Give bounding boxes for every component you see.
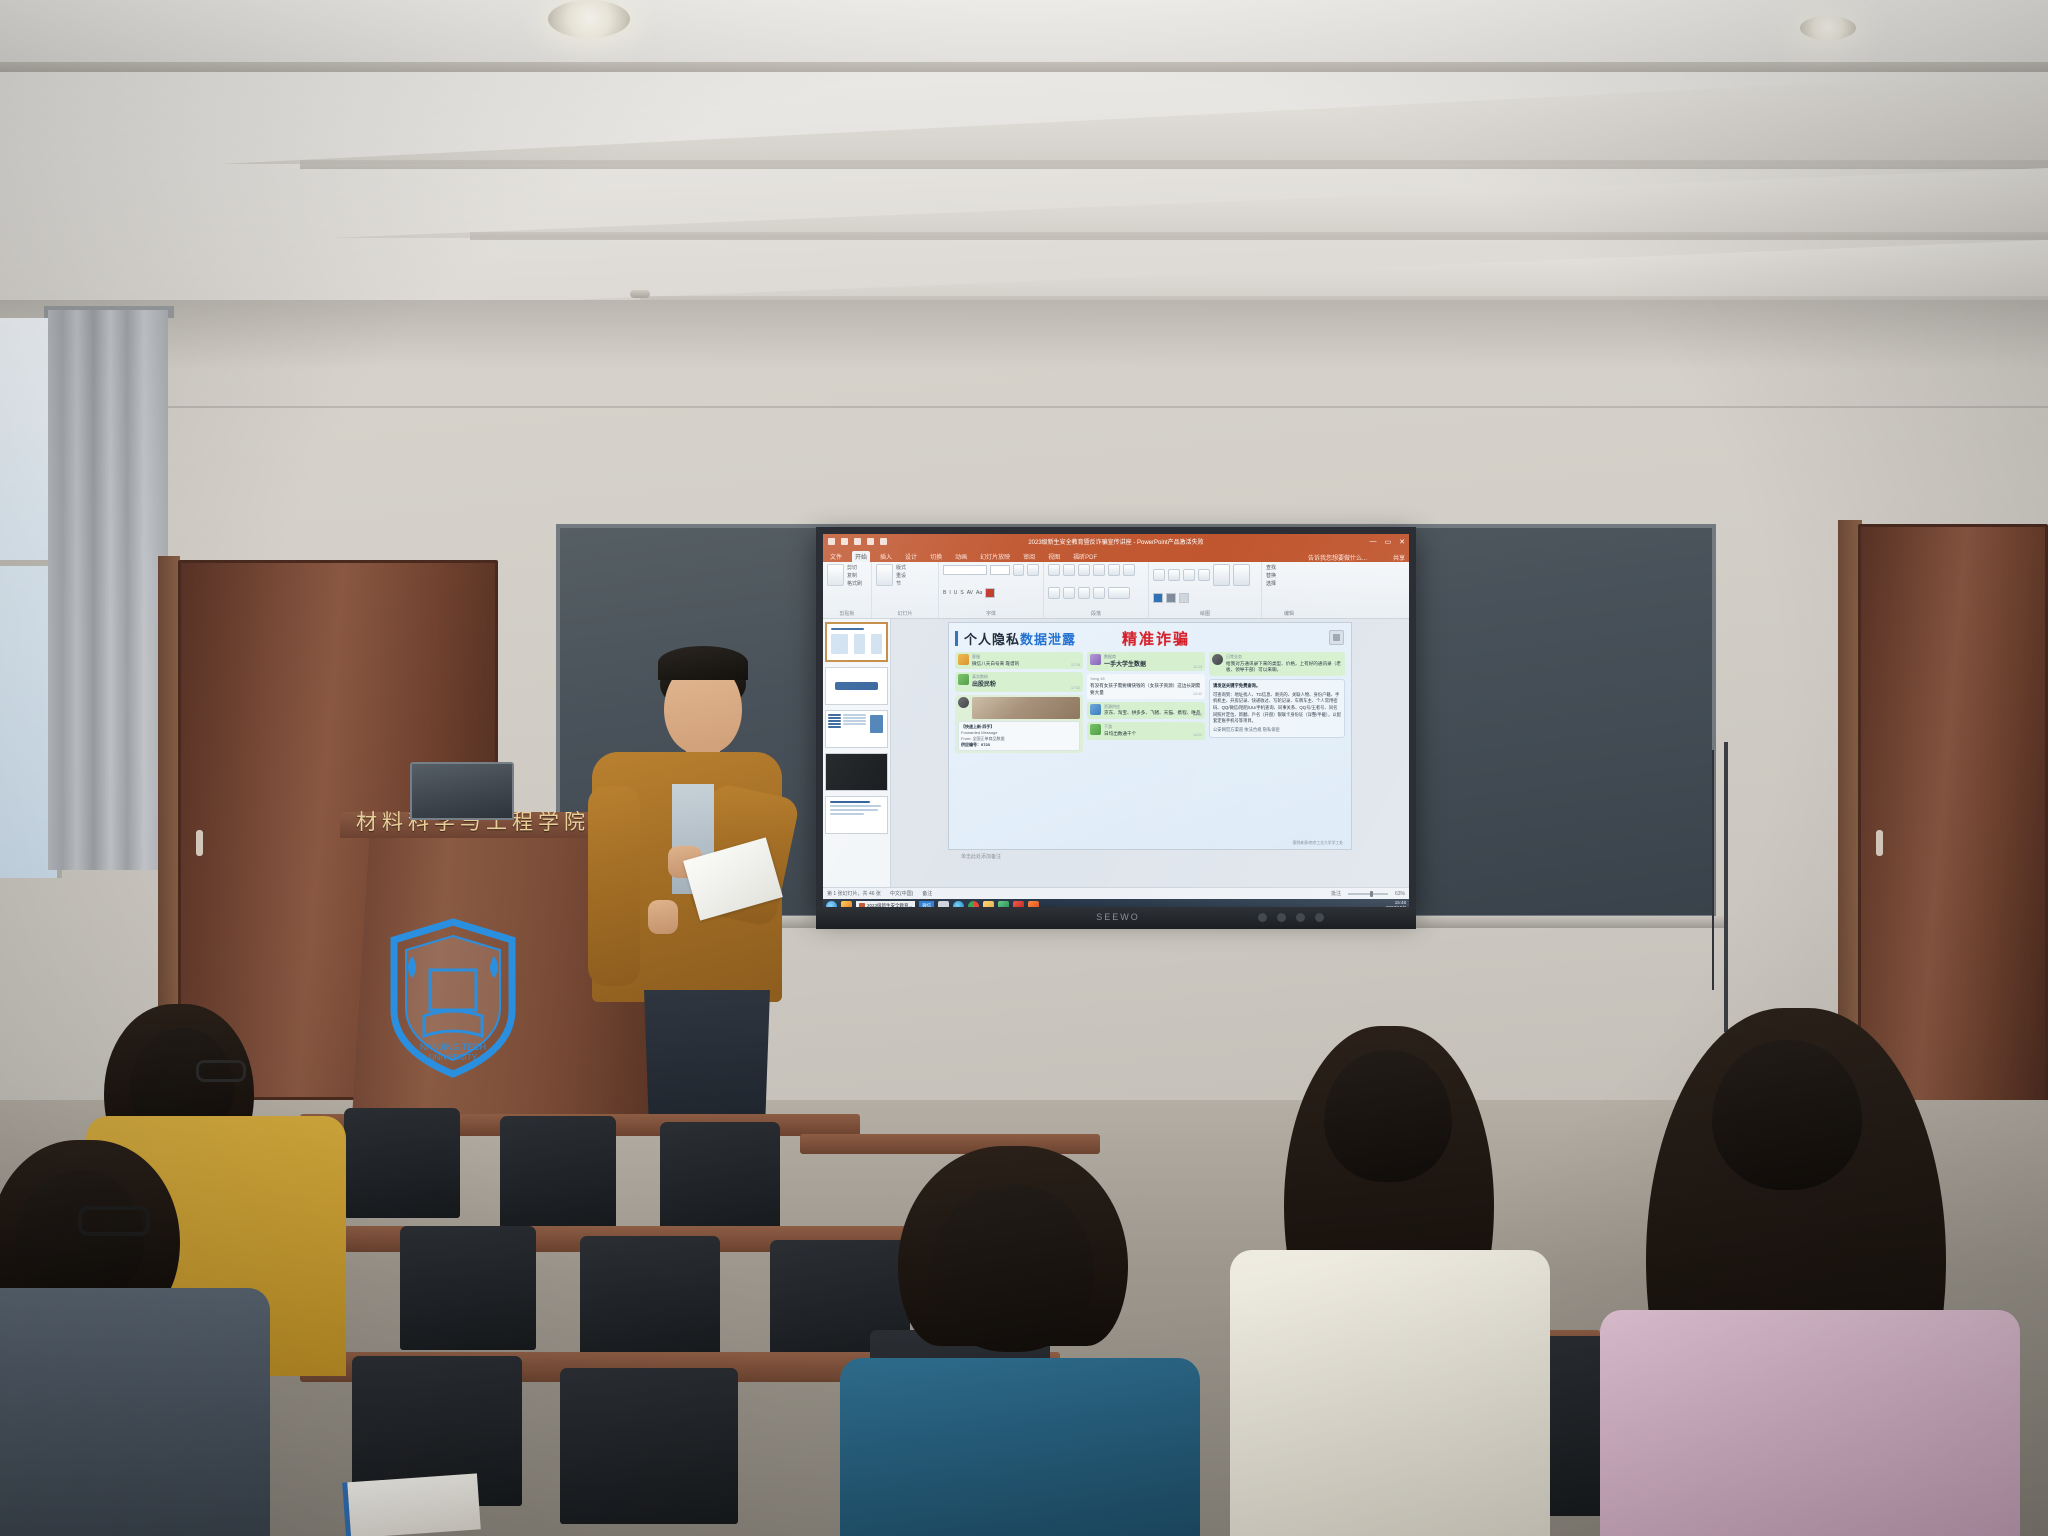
shape-oval-icon[interactable] (1198, 569, 1210, 581)
align-left-icon[interactable] (1048, 587, 1060, 599)
presenter-fringe (658, 646, 748, 680)
chat-time-5: 14:08 (1193, 713, 1202, 718)
replace-label[interactable]: 替换 (1266, 572, 1276, 579)
forward-line2: From: 全国正单商品数据 (961, 736, 1005, 741)
slide-title: 个人隐私数据泄露 (964, 629, 1076, 648)
chat-bubble-7: 日常业务 给我对方通讯录下来的类型、价格，上有好的通讯录（老板、领导干部）可以来… (1209, 652, 1345, 676)
student-right-pink-body (1600, 1310, 2020, 1536)
numbering-icon[interactable] (1063, 564, 1075, 576)
powerpoint-workspace: 1 2 (823, 619, 1409, 887)
downlight-2 (1800, 16, 1856, 40)
avatar (1090, 724, 1101, 735)
document-title: 2023级新生安全教育暨反诈骗宣传讲座 - PowerPoint产品激活失败 (823, 537, 1409, 546)
shape-effects-icon[interactable] (1179, 593, 1189, 603)
student-left-body (0, 1288, 270, 1536)
paste-icon[interactable] (827, 564, 844, 586)
chair-5[interactable] (580, 1236, 720, 1362)
ceiling-beam-front (0, 0, 2048, 62)
powerpoint-status-bar[interactable]: 第 1 张幻灯片，共 46 张 中文(中国) 备注 批注 63% (823, 887, 1409, 899)
ribbon-group-paragraph[interactable]: 段落 (1044, 562, 1149, 618)
tab-animations[interactable]: 动画 (952, 551, 970, 562)
avatar (958, 654, 969, 665)
ribbon-group-drawing[interactable]: 绘图 (1149, 562, 1262, 618)
group-label-editing: 编辑 (1266, 610, 1312, 618)
smoke-detector (630, 290, 650, 298)
underline-icon[interactable]: U (954, 590, 958, 596)
display-key-4[interactable] (1315, 913, 1324, 922)
notes-pane[interactable]: 单击此处添加备注 (891, 850, 1409, 868)
downlight-1 (548, 0, 630, 38)
char-spacing-icon[interactable]: AV (967, 590, 973, 596)
bold-icon[interactable]: B (943, 590, 946, 596)
display-key-3[interactable] (1296, 913, 1305, 922)
slide-header: 个人隐私数据泄露 精准诈骗 (955, 628, 1345, 649)
computer-screen[interactable]: 2023级新生安全教育暨反诈骗宣传讲座 - PowerPoint产品激活失败 —… (823, 534, 1409, 907)
slide-thumbnail-2[interactable]: 2 (825, 667, 888, 705)
ribbon-group-clipboard[interactable]: 剪切 复制 格式刷 剪贴板 (823, 562, 872, 618)
display-brand-label: SEEWO (1078, 911, 1158, 924)
chair-8[interactable] (560, 1368, 738, 1524)
align-center-icon[interactable] (1063, 587, 1075, 599)
display-control-keys[interactable] (1258, 913, 1324, 922)
slide-title-part1: 个人隐私 (964, 632, 1020, 647)
tab-transitions[interactable]: 切换 (927, 551, 945, 562)
laptop[interactable] (410, 762, 514, 820)
tab-file[interactable]: 文件 (827, 551, 845, 562)
slide-footer-credit: 案例来源/南京工业大学学工处 (1293, 841, 1343, 846)
ribbon-group-editing[interactable]: 查找 替换 选择 编辑 (1262, 562, 1316, 618)
font-name-box[interactable] (943, 565, 987, 575)
chat-text-5: 京东、淘宝、拼多多、飞猪、天猫、携程、唯品 (1104, 710, 1202, 717)
title-accent-bar (955, 631, 958, 646)
forward-line3: 供应编号：0723 (961, 742, 990, 747)
svg-text:NANJING TECH: NANJING TECH (420, 1042, 486, 1052)
slide-column-right: 日常业务 给我对方通讯录下来的类型、价格，上有好的通讯录（老板、领导干部）可以来… (1209, 652, 1345, 848)
shape-line-icon[interactable] (1183, 569, 1195, 581)
avatar (1212, 654, 1223, 665)
group-label-font: 字体 (943, 610, 1039, 618)
ribbon-tabs[interactable]: 文件 开始 插入 设计 切换 动画 幻灯片放映 审阅 视图 福昕PDF 告诉我您… (823, 549, 1409, 562)
chat-bubble-5: 资源供应 京东、淘宝、拼多多、飞猪、天猫、携程、唯品 14:08 (1087, 702, 1205, 719)
chat-bubble-3: 数据商 一手大学生数据 11:13 (1087, 652, 1205, 671)
comments-button[interactable]: 批注 (1331, 890, 1341, 897)
forwarded-photo-card: 【快递上新·四手】 Forwarded Message From: 全国正单商品… (955, 695, 1083, 753)
door-handle-right[interactable] (1876, 830, 1883, 856)
language-indicator[interactable]: 中文(中国) (890, 890, 913, 897)
chat-time-4: 13:42 (1193, 692, 1202, 697)
chat-text-2: 出股民粉 (972, 681, 1080, 690)
format-painter-label[interactable]: 格式刷 (847, 580, 862, 587)
chat-sender-1: 客服 (972, 654, 1080, 660)
tv-signal-cable (1712, 750, 1714, 990)
slide-logo-icon (1329, 630, 1344, 645)
chair-3[interactable] (660, 1122, 780, 1238)
avatar (958, 674, 969, 685)
chat-time-6: 14:21 (1193, 733, 1202, 738)
chat-sender-2: 真实数粉 (972, 674, 1080, 680)
current-slide[interactable]: 个人隐私数据泄露 精准诈骗 客服 微信八天白号来 靠谱的 (948, 622, 1352, 850)
section-label[interactable]: 节 (896, 580, 906, 587)
notes-toggle-button[interactable]: 备注 (922, 890, 932, 897)
forwarded-message-block: 【快递上新·四手】 Forwarded Message From: 全国正单商品… (958, 721, 1080, 751)
slide-column-left: 客服 微信八天白号来 靠谱的 17:15 真实数粉 出股民粉 (955, 652, 1083, 848)
quick-styles-icon[interactable] (1233, 564, 1250, 586)
copy-label[interactable]: 复制 (847, 572, 862, 579)
wall-seam-1 (0, 406, 2048, 408)
tab-home[interactable]: 开始 (852, 551, 870, 562)
zoom-level[interactable]: 63% (1395, 891, 1405, 897)
chat-time-3: 11:13 (1193, 665, 1202, 670)
tab-view[interactable]: 视图 (1045, 551, 1063, 562)
ribbon-group-slides[interactable]: 版式 重设 节 幻灯片 (872, 562, 939, 618)
display-key-2[interactable] (1277, 913, 1286, 922)
align-text-icon[interactable] (1123, 564, 1135, 576)
tab-insert[interactable]: 插入 (877, 551, 895, 562)
bullets-icon[interactable] (1048, 564, 1060, 576)
decrease-font-icon[interactable] (1027, 564, 1039, 576)
decrease-indent-icon[interactable] (1078, 564, 1090, 576)
chat-bubble-4: Yang 18 有没有女孩子需要赚快钱的（女孩子资源）这边长期需要大量 13:4… (1087, 674, 1205, 698)
avatar (958, 697, 969, 708)
student-center-head (930, 1184, 1094, 1352)
service-listing-panel: 请发送关键字免费查询。 可查询到：地址找人、TG信息、剥壳的、关联人物、身份户籍… (1209, 679, 1345, 738)
shape-fill-icon[interactable] (1153, 593, 1163, 603)
increase-indent-icon[interactable] (1093, 564, 1105, 576)
slide-thumbnail-3[interactable]: 3 (825, 710, 888, 748)
smartart-icon[interactable] (1108, 587, 1130, 599)
shape-arrow-icon[interactable] (1168, 569, 1180, 581)
slide-title-part2: 数据泄露 (1020, 632, 1076, 647)
tab-review[interactable]: 审阅 (1020, 551, 1038, 562)
chat-sender-4: Yang 18 (1090, 676, 1202, 682)
panel-body: 可查询到：地址找人、TG信息、剥壳的、关联人物、身份户籍、手机机主、开房记录、快… (1213, 692, 1341, 724)
group-label-drawing: 绘图 (1153, 610, 1257, 618)
layout-label[interactable]: 版式 (896, 564, 906, 571)
university-emblem: NANJING TECH UNIVERSITY (386, 918, 520, 1078)
chat-text-6: 日均出数通千个 (1104, 731, 1202, 738)
forwarded-image (972, 697, 1080, 719)
chat-sender-7: 日常业务 (1226, 654, 1342, 660)
group-label-clipboard: 剪贴板 (827, 610, 867, 618)
door-right[interactable] (1858, 524, 2048, 1124)
student-right-pink-head (1712, 1040, 1862, 1190)
close-icon[interactable]: ✕ (1399, 538, 1405, 546)
strikethrough-icon[interactable]: S (960, 590, 963, 596)
ceiling-slot-3 (470, 232, 2048, 240)
presenter-left-sleeve (588, 786, 640, 986)
chat-text-4: 有没有女孩子需要赚快钱的（女孩子资源）这边长期需要大量 (1090, 683, 1202, 696)
slide-editing-stage[interactable]: 个人隐私数据泄露 精准诈骗 客服 微信八天白号来 靠谱的 (891, 619, 1409, 887)
student-right-light-body (1230, 1250, 1550, 1536)
chat-sender-6: 下游 (1104, 724, 1202, 730)
text-direction-icon[interactable] (1108, 564, 1120, 576)
group-label-paragraph: 段落 (1048, 610, 1144, 618)
arrange-icon[interactable] (1213, 564, 1230, 586)
chat-text-3: 一手大学生数据 (1104, 661, 1202, 670)
panel-title: 请发送关键字免费查询。 (1213, 683, 1341, 690)
change-case-icon[interactable]: Aa (976, 590, 982, 596)
chat-bubble-2: 真实数粉 出股民粉 17:02 (955, 672, 1083, 691)
chat-bubble-1: 客服 微信八天白号来 靠谱的 17:15 (955, 652, 1083, 669)
student-center-body (840, 1358, 1200, 1536)
share-button[interactable]: 共享 (1393, 553, 1405, 562)
group-label-slides: 幻灯片 (876, 610, 934, 618)
chat-time-2: 17:02 (1071, 686, 1080, 691)
chair-2[interactable] (500, 1116, 616, 1228)
chat-text-7: 给我对方通讯录下来的类型、价格，上有好的通讯录（老板、领导干部）可以来聊。 (1226, 661, 1342, 674)
chat-time-1: 17:15 (1071, 663, 1080, 668)
forward-label: 【快递上新·四手】 (961, 724, 994, 729)
shape-outline-icon[interactable] (1166, 593, 1176, 603)
slide-thumbnail-1[interactable]: 1 (825, 622, 888, 662)
cut-label[interactable]: 剪切 (847, 564, 862, 571)
display-key-1[interactable] (1258, 913, 1267, 922)
tab-slideshow[interactable]: 幻灯片放映 (977, 551, 1013, 562)
avatar (1090, 704, 1101, 715)
ribbon-body[interactable]: 剪切 复制 格式刷 剪贴板 版式 重设 节 幻灯片 (823, 562, 1409, 619)
student-left-head (16, 1170, 144, 1304)
chat-sender-5: 资源供应 (1104, 704, 1202, 710)
zoom-slider[interactable] (1348, 893, 1388, 895)
chat-bubble-6: 下游 日均出数通千个 14:21 (1087, 722, 1205, 739)
presenter-left-hand (648, 900, 678, 934)
glasses-icon (78, 1206, 150, 1236)
select-label[interactable]: 选择 (1266, 580, 1276, 587)
ceiling-slot-2 (300, 160, 2048, 169)
increase-font-icon[interactable] (1013, 564, 1025, 576)
justify-icon[interactable] (1093, 587, 1105, 599)
status-right-group[interactable]: 批注 63% (1331, 890, 1405, 897)
align-right-icon[interactable] (1078, 587, 1090, 599)
ribbon-group-font[interactable]: B I U S AV Aa 字体 (939, 562, 1044, 618)
forward-line1: Forwarded Message (961, 730, 997, 735)
window-controls[interactable]: — ▭ ✕ (1370, 538, 1406, 546)
student-right-light-head (1324, 1050, 1452, 1182)
glasses-icon (196, 1060, 246, 1082)
slide-headline-red: 精准诈骗 (1122, 628, 1190, 649)
tab-foxit-pdf[interactable]: 福昕PDF (1070, 551, 1100, 562)
new-slide-icon[interactable] (876, 564, 893, 586)
avatar (1090, 654, 1101, 665)
tab-design[interactable]: 设计 (902, 551, 920, 562)
slide-column-middle: 数据商 一手大学生数据 11:13 Yang 18 有没有女孩子需要赚快钱的（女… (1087, 652, 1205, 848)
find-label[interactable]: 查找 (1266, 564, 1276, 571)
chair-1[interactable] (344, 1108, 460, 1218)
chair-4[interactable] (400, 1226, 536, 1350)
presenter-pants (644, 990, 770, 1130)
lecture-hall-photo: 2023级新生安全教育暨反诈骗宣传讲座 - PowerPoint产品激活失败 —… (0, 0, 2048, 1536)
door-handle-left[interactable] (196, 830, 203, 856)
shape-rect-icon[interactable] (1153, 569, 1165, 581)
svg-text:UNIVERSITY: UNIVERSITY (429, 1053, 478, 1062)
chat-sender-3: 数据商 (1104, 654, 1202, 660)
panel-footer: 公安网官方渠道 依法合规 隐私保密 (1213, 727, 1341, 734)
slide-indicator: 第 1 张幻灯片，共 46 张 (827, 890, 881, 897)
powerpoint-titlebar: 2023级新生安全教育暨反诈骗宣传讲座 - PowerPoint产品激活失败 —… (823, 534, 1409, 549)
tell-me-box[interactable]: 告诉我您想要做什么... (1308, 553, 1367, 562)
tv-power-cable (1724, 742, 1728, 1032)
slide-thumbnail-5[interactable]: 5 (825, 796, 888, 834)
minimize-icon[interactable]: — (1370, 538, 1377, 546)
slide-body: 客服 微信八天白号来 靠谱的 17:15 真实数粉 出股民粉 (955, 652, 1345, 848)
wall-top-shadow (0, 300, 2048, 370)
windows-taskbar[interactable]: 2023级新生安全教育... 微信 15:48 2023/10/9 (823, 899, 1409, 907)
font-color-icon[interactable] (985, 588, 995, 598)
chat-text-1: 微信八天白号来 靠谱的 (972, 661, 1080, 668)
notebook[interactable] (342, 1473, 481, 1536)
curtain (48, 310, 168, 870)
restore-icon[interactable]: ▭ (1385, 538, 1392, 546)
slide-thumbnail-4[interactable]: 4 (825, 753, 888, 791)
reset-label[interactable]: 重设 (896, 572, 906, 579)
font-size-box[interactable] (990, 565, 1009, 575)
ceiling-slot-1 (0, 62, 2048, 72)
italic-icon[interactable]: I (949, 590, 950, 596)
slide-thumbnail-pane[interactable]: 1 2 (823, 619, 891, 887)
